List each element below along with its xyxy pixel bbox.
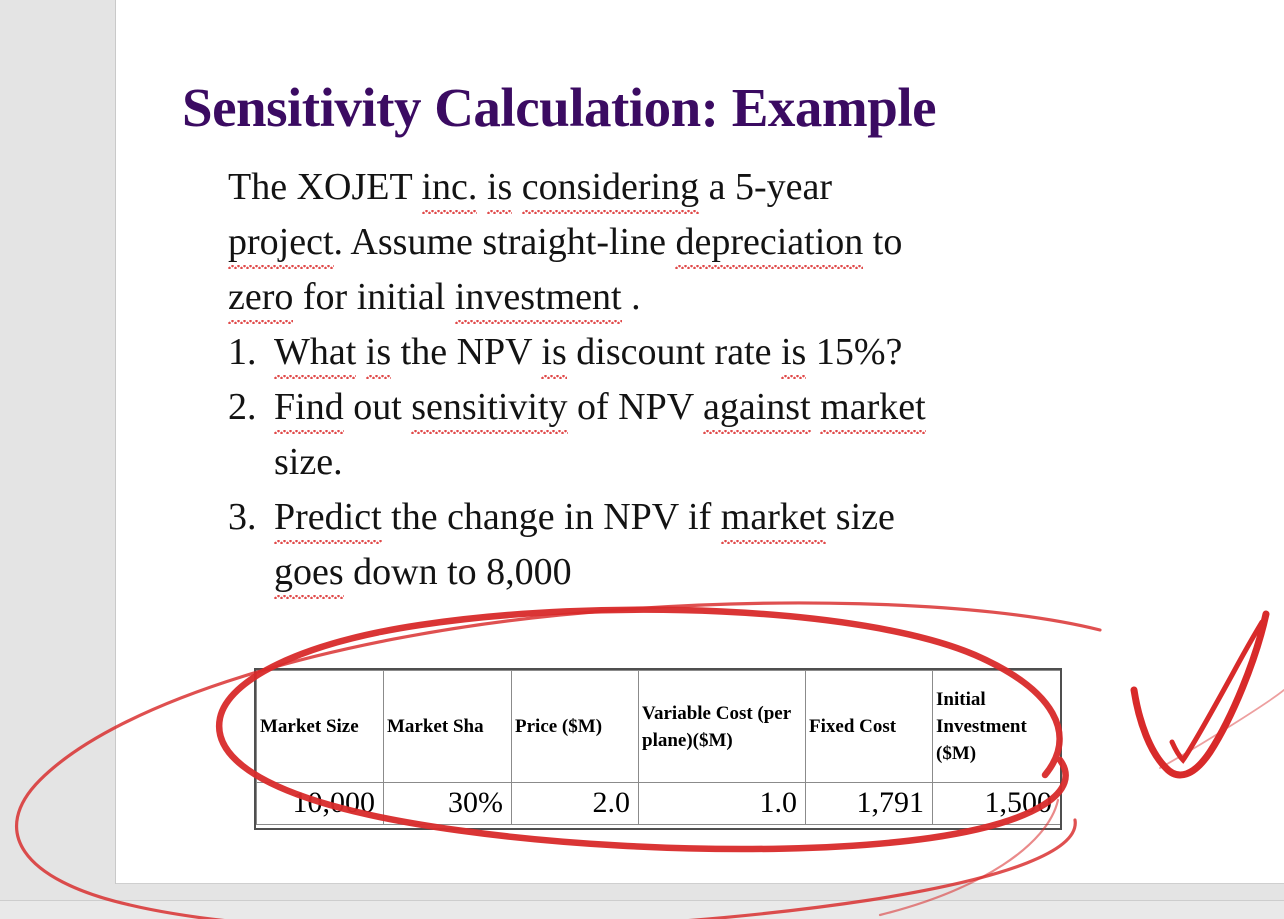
text-run [477,166,487,208]
cell-fixed-cost: 1,791 [806,783,933,825]
list-number: 2. [228,380,274,435]
misspelled-word: Find [274,380,344,435]
left-gutter [0,0,116,901]
misspelled-word: market [820,380,926,435]
text-run: discount rate [567,331,781,373]
slide-title: Sensitivity Calculation: Example [182,76,936,139]
list-item-text: Find out sensitivity of NPV against mark… [274,380,1128,435]
misspelled-word: Predict [274,490,382,545]
text-run: out [344,386,412,428]
list-item-text: goes down to 8,000 [228,545,572,600]
list-item-text: What is the NPV is discount rate is 15%? [274,325,1128,380]
bottom-strip [0,901,1284,919]
list-item-text: size. [228,435,343,490]
slide-viewer: Sensitivity Calculation: Example The XOJ… [0,0,1284,919]
list-item: 3. Predict the change in NPV if market s… [228,490,1128,545]
text-run [811,386,821,428]
text-run: down to 8,000 [344,551,572,593]
text-run: for initial [293,276,454,318]
list-number: 1. [228,325,274,380]
text-run: to [863,221,902,263]
table-row: 10,000 30% 2.0 1.0 1,791 1,500 [257,783,1061,825]
text-run [356,331,366,373]
cell-market-size: 10,000 [257,783,384,825]
text-run: the change in NPV if [382,496,721,538]
misspelled-word: inc. [422,160,478,215]
text-run: size [826,496,895,538]
numbered-question-list: 1. What is the NPV is discount rate is 1… [228,325,1128,600]
column-header-market-share: Market Sha [384,671,512,783]
column-header-variable-cost: Variable Cost (per plane)($M) [639,671,806,783]
column-header-fixed-cost: Fixed Cost [806,671,933,783]
text-run: the NPV [391,331,541,373]
cell-initial-investment: 1,500 [933,783,1061,825]
misspelled-word: sensitivity [411,380,567,435]
text-run: The XOJET [228,166,422,208]
text-run: . Assume straight-line [334,221,676,263]
misspelled-word: against [703,380,811,435]
list-item-continuation: size. [228,435,1128,490]
slide-body: The XOJET inc. is considering a 5-yearpr… [228,160,1128,600]
cell-variable-cost: 1.0 [639,783,806,825]
misspelled-word: is [781,325,806,380]
misspelled-word: is [366,325,391,380]
text-run [512,166,522,208]
cell-market-share: 30% [384,783,512,825]
list-item: 1. What is the NPV is discount rate is 1… [228,325,1128,380]
text-run: a 5-year [699,166,832,208]
list-item: 2. Find out sensitivity of NPV against m… [228,380,1128,435]
slide-canvas: Sensitivity Calculation: Example The XOJ… [116,0,1284,884]
misspelled-word: zero [228,270,293,325]
misspelled-word: market [721,490,827,545]
misspelled-word: goes [274,545,344,600]
intro-paragraph: The XOJET inc. is considering a 5-yearpr… [228,160,1128,325]
cell-price: 2.0 [512,783,639,825]
column-header-price: Price ($M) [512,671,639,783]
column-header-market-size: Market Size [257,671,384,783]
text-run: . [622,276,641,318]
list-number: 3. [228,490,274,545]
text-run: 15%? [806,331,902,373]
misspelled-word: is [541,325,566,380]
misspelled-word: What [274,325,356,380]
column-header-initial-investment: Initial Investment ($M) [933,671,1061,783]
text-run: of NPV [568,386,704,428]
misspelled-word: is [487,160,512,215]
assumptions-table: Market Size Market Sha Price ($M) Variab… [256,670,1061,825]
misspelled-word: project [228,215,334,270]
list-item-continuation: goes down to 8,000 [228,545,1128,600]
misspelled-word: investment [455,270,622,325]
misspelled-word: depreciation [675,215,863,270]
list-item-text: Predict the change in NPV if market size [274,490,1128,545]
table-header-row: Market Size Market Sha Price ($M) Variab… [257,671,1061,783]
misspelled-word: considering [522,160,699,215]
